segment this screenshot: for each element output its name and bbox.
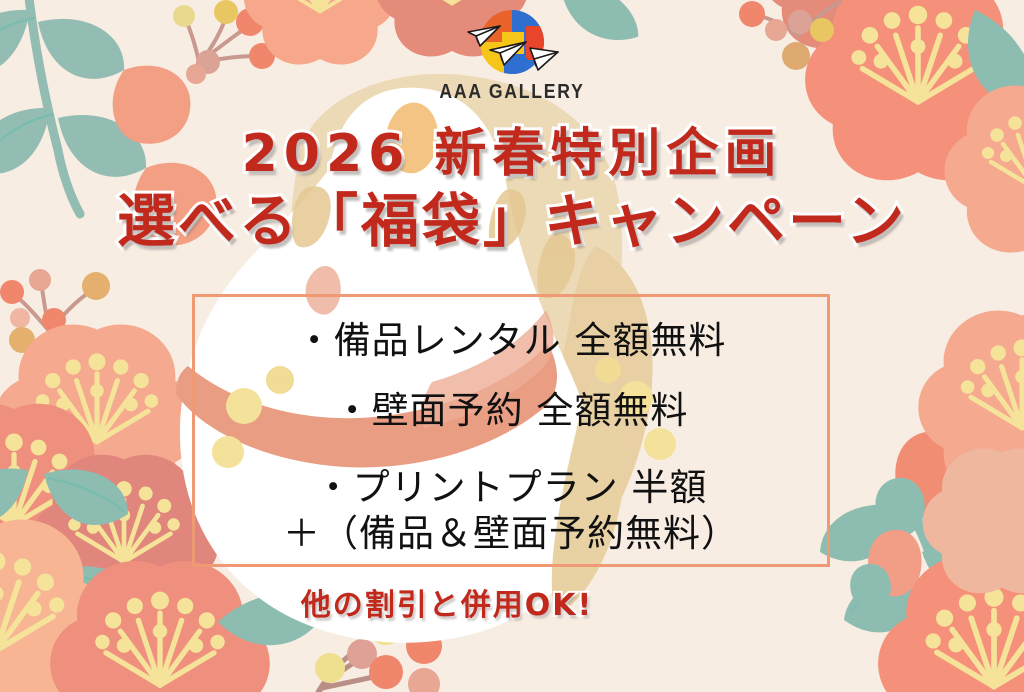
headline-group: 2026 新春特別企画 選べる「福袋」キャンペーン xyxy=(0,128,1024,250)
offer-line-print-plan-bonus: ＋（備品＆壁面予約無料） xyxy=(283,512,739,556)
brand-wordmark: AAA GALLERY xyxy=(61,81,962,104)
headline-line-1: 2026 新春特別企画 xyxy=(0,128,1024,180)
offer-line-wall-booking: ・壁面予約 全額無料 xyxy=(334,389,689,433)
offer-details-box: ・備品レンタル 全額無料 ・壁面予約 全額無料 ・プリントプラン 半額 ＋（備品… xyxy=(192,294,830,567)
brand-logo: AAA GALLERY xyxy=(0,8,1024,104)
campaign-poster: AAA GALLERY 2026 新春特別企画 選べる「福袋」キャンペーン ・備… xyxy=(0,0,1024,692)
offer-line-equipment-rental: ・備品レンタル 全額無料 xyxy=(296,319,727,363)
footnote-text: 他の割引と併用OK! xyxy=(301,580,593,624)
footnote-group: 他の割引と併用OK! xyxy=(0,580,1024,624)
aaa-gallery-logo-icon xyxy=(464,8,560,80)
headline-line-2: 選べる「福袋」キャンペーン xyxy=(0,192,1024,250)
offer-line-print-plan: ・プリントプラン 半額 xyxy=(315,466,708,510)
